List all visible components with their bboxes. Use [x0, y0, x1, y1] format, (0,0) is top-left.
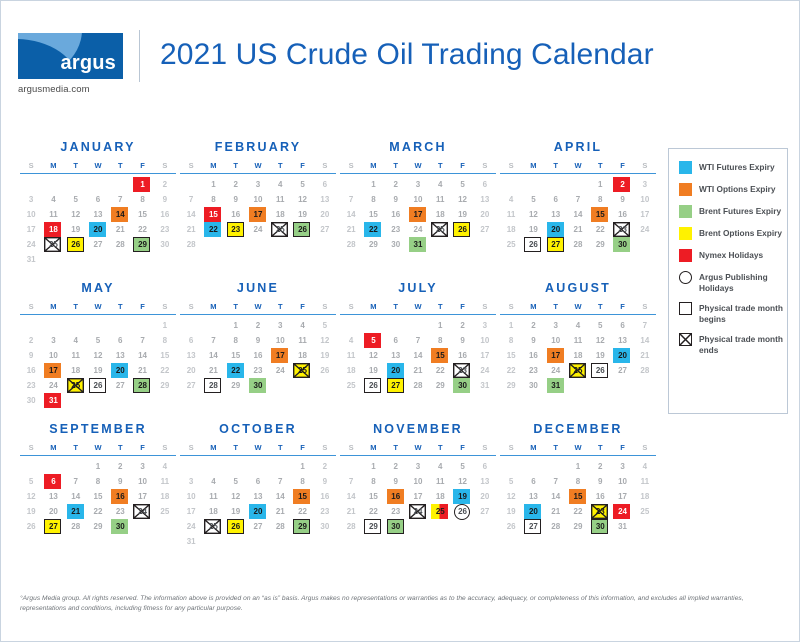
- weekday-label: S: [634, 161, 656, 170]
- day-number: 25: [640, 508, 649, 516]
- day-number: 17: [254, 211, 263, 219]
- day-cell: 28: [109, 238, 131, 252]
- day-cell: 12: [314, 334, 336, 348]
- day-cell: 24: [131, 505, 153, 519]
- day-number: 19: [298, 211, 307, 219]
- day-number: 5: [531, 196, 535, 204]
- day-number: 9: [29, 352, 33, 360]
- day-cell: 1: [202, 178, 224, 192]
- day-cell: 19: [20, 505, 42, 519]
- day-number: 8: [233, 337, 237, 345]
- day-cell: 26: [225, 520, 247, 534]
- day-cell: 30: [385, 520, 407, 534]
- day-cell: 13: [42, 490, 64, 504]
- day-number: 14: [347, 493, 356, 501]
- day-cell: 2: [20, 334, 42, 348]
- day-cell: 14: [180, 208, 202, 222]
- day-number: 29: [298, 523, 307, 531]
- day-empty: [362, 319, 384, 333]
- day-number: 5: [509, 478, 513, 486]
- day-empty: [500, 460, 522, 474]
- day-number: 28: [276, 523, 285, 531]
- day-number: 25: [347, 382, 356, 390]
- day-number: 26: [231, 523, 240, 531]
- day-cell: 2: [154, 178, 176, 192]
- day-number: 30: [160, 241, 169, 249]
- day-cell: 3: [474, 319, 496, 333]
- day-number: 12: [27, 493, 36, 501]
- day-cell: 18: [429, 208, 451, 222]
- day-number: 27: [94, 241, 103, 249]
- day-number: 19: [596, 352, 605, 360]
- day-number: 11: [641, 478, 649, 486]
- day-cell: 28: [340, 520, 362, 534]
- day-cell: 20: [247, 505, 269, 519]
- day-number: 27: [529, 523, 538, 531]
- day-number: 26: [71, 241, 80, 249]
- day-number: 30: [254, 382, 263, 390]
- day-cell: 1: [362, 178, 384, 192]
- day-cell: 28: [202, 379, 224, 393]
- day-cell: 15: [87, 490, 109, 504]
- day-number: 22: [209, 226, 218, 234]
- day-cell: 24: [407, 505, 429, 519]
- month-december: DECEMBERSMTWTFS1234567891011121314151617…: [500, 422, 660, 549]
- day-cell: 2: [522, 319, 544, 333]
- legend-item-label: Physical trade month ends: [699, 333, 787, 355]
- day-number: 18: [347, 367, 356, 375]
- days-grid: 1234567891011121314151617181920212223242…: [180, 460, 336, 549]
- day-cell: 4: [154, 460, 176, 474]
- day-cell: 25: [65, 379, 87, 393]
- day-cell: 3: [407, 460, 429, 474]
- weekday-label: M: [202, 302, 224, 311]
- day-cell: 30: [314, 520, 336, 534]
- day-cell: 31: [407, 238, 429, 252]
- day-cell: 15: [225, 349, 247, 363]
- day-cell: 5: [65, 193, 87, 207]
- day-number: 3: [51, 337, 55, 345]
- day-number: 16: [116, 493, 125, 501]
- day-number: 31: [49, 397, 58, 405]
- day-cell: 17: [407, 490, 429, 504]
- day-cell: 29: [291, 520, 313, 534]
- day-cell: 8: [225, 334, 247, 348]
- day-number: 5: [323, 322, 327, 330]
- day-cell: 12: [589, 334, 611, 348]
- weekday-label: F: [451, 302, 473, 311]
- day-number: 6: [323, 181, 327, 189]
- day-number: 20: [320, 211, 329, 219]
- day-cell: 15: [362, 490, 384, 504]
- day-cell: 18: [634, 490, 656, 504]
- day-cell: 22: [131, 223, 153, 237]
- legend-item-label: WTI Options Expiry: [699, 183, 776, 195]
- day-number: 16: [27, 367, 36, 375]
- day-cell: 4: [340, 334, 362, 348]
- day-empty: [202, 460, 224, 474]
- legend-item-label: Nymex Holidays: [699, 249, 763, 261]
- day-number: 19: [94, 367, 103, 375]
- day-number: 15: [574, 493, 583, 501]
- day-number: 2: [531, 322, 535, 330]
- day-empty: [522, 178, 544, 192]
- day-cell: 5: [500, 475, 522, 489]
- day-number: 12: [298, 196, 307, 204]
- day-cell: 30: [109, 520, 131, 534]
- weekday-label: S: [474, 302, 496, 311]
- day-number: 30: [529, 382, 538, 390]
- weekday-label: T: [385, 302, 407, 311]
- weekday-label: T: [429, 443, 451, 452]
- logo-wordmark: argus: [61, 53, 116, 73]
- day-cell: 16: [451, 349, 473, 363]
- day-number: 8: [576, 478, 580, 486]
- blue-square-icon: [679, 161, 692, 174]
- day-number: 16: [391, 493, 400, 501]
- day-cell: 13: [474, 475, 496, 489]
- day-cell: 4: [429, 178, 451, 192]
- day-cell: 13: [247, 490, 269, 504]
- day-cell: 16: [385, 208, 407, 222]
- weekday-label: S: [154, 443, 176, 452]
- day-cell: 14: [131, 349, 153, 363]
- day-number: 28: [71, 523, 80, 531]
- day-number: 28: [138, 382, 147, 390]
- day-cell: 9: [20, 349, 42, 363]
- day-number: 4: [349, 337, 353, 345]
- day-number: 22: [596, 226, 605, 234]
- weekday-label: F: [611, 443, 633, 452]
- day-number: 4: [278, 181, 282, 189]
- day-cell: 7: [545, 475, 567, 489]
- day-cell: 14: [269, 490, 291, 504]
- day-cell: 11: [429, 193, 451, 207]
- day-cell: 21: [131, 364, 153, 378]
- day-cell: 1: [567, 460, 589, 474]
- day-number: 8: [163, 337, 167, 345]
- month-november: NOVEMBERSMTWTFS1234567891011121314151617…: [340, 422, 500, 549]
- day-cell: 27: [247, 520, 269, 534]
- weekday-label: M: [362, 302, 384, 311]
- day-cell: 28: [131, 379, 153, 393]
- day-number: 19: [231, 508, 240, 516]
- day-empty: [522, 460, 544, 474]
- day-empty: [180, 178, 202, 192]
- day-number: 13: [94, 211, 103, 219]
- day-number: 13: [480, 478, 489, 486]
- day-number: 4: [438, 463, 442, 471]
- day-cell: 22: [202, 223, 224, 237]
- day-number: 28: [347, 523, 356, 531]
- day-cell: 23: [20, 379, 42, 393]
- legend-item-label: Brent Futures Expiry: [699, 205, 781, 217]
- day-cell: 31: [20, 253, 42, 267]
- day-number: 15: [369, 211, 378, 219]
- weekday-label: M: [362, 161, 384, 170]
- legend-item: Nymex Holidays: [679, 249, 787, 262]
- day-number: 18: [276, 211, 285, 219]
- day-cell: 10: [247, 193, 269, 207]
- day-cell: 20: [385, 364, 407, 378]
- day-cell: 10: [20, 208, 42, 222]
- day-cell: 28: [65, 520, 87, 534]
- day-cell: 27: [522, 520, 544, 534]
- day-number: 26: [94, 382, 103, 390]
- day-cell: 9: [314, 475, 336, 489]
- day-cell: 18: [42, 223, 64, 237]
- day-number: 28: [551, 523, 560, 531]
- day-number: 22: [369, 508, 378, 516]
- day-number: 12: [458, 478, 467, 486]
- day-empty: [340, 319, 362, 333]
- weekday-header-row: SMTWTFS: [340, 302, 496, 315]
- day-cell: 6: [474, 178, 496, 192]
- day-number: 24: [640, 226, 649, 234]
- weekday-label: M: [522, 443, 544, 452]
- day-number: 5: [233, 478, 237, 486]
- day-number: 22: [231, 367, 240, 375]
- day-number: 9: [393, 196, 397, 204]
- day-cell: 25: [500, 238, 522, 252]
- day-cell: 14: [340, 208, 362, 222]
- day-cell: 11: [291, 334, 313, 348]
- day-cell: 23: [154, 223, 176, 237]
- day-number: 15: [436, 352, 445, 360]
- day-cell: 6: [87, 193, 109, 207]
- weekday-label: T: [109, 302, 131, 311]
- day-number: 4: [509, 196, 513, 204]
- weekday-label: M: [522, 302, 544, 311]
- weekday-label: F: [611, 302, 633, 311]
- day-number: 15: [507, 352, 516, 360]
- day-number: 26: [369, 382, 378, 390]
- day-number: 22: [94, 508, 103, 516]
- day-empty: [20, 178, 42, 192]
- weekday-label: T: [225, 302, 247, 311]
- day-cell: 12: [451, 475, 473, 489]
- day-cell: 6: [611, 319, 633, 333]
- day-cell: 2: [385, 178, 407, 192]
- day-empty: [65, 460, 87, 474]
- day-number: 2: [323, 463, 327, 471]
- weekday-label: F: [451, 443, 473, 452]
- day-number: 5: [598, 322, 602, 330]
- legend-item: Argus Publishing Holidays: [679, 271, 787, 293]
- day-number: 29: [231, 382, 240, 390]
- day-cell: 12: [522, 208, 544, 222]
- month-title: SEPTEMBER: [20, 422, 176, 436]
- day-cell: 10: [545, 334, 567, 348]
- argus-logo-mark: argus: [18, 33, 123, 79]
- day-cell: 21: [65, 505, 87, 519]
- day-number: 9: [256, 337, 260, 345]
- day-cell: 30: [20, 394, 42, 408]
- weekday-label: T: [269, 161, 291, 170]
- days-grid: 1234567891011121314151617181920212223242…: [20, 319, 176, 408]
- day-number: 6: [620, 322, 624, 330]
- day-cell: 20: [522, 505, 544, 519]
- day-cell: 6: [522, 475, 544, 489]
- day-cell: 4: [291, 319, 313, 333]
- day-number: 19: [27, 508, 36, 516]
- day-number: 22: [138, 226, 147, 234]
- day-cell: 29: [225, 379, 247, 393]
- day-cell: 3: [247, 178, 269, 192]
- day-cell: 19: [500, 505, 522, 519]
- day-number: 18: [71, 367, 80, 375]
- day-cell: 7: [407, 334, 429, 348]
- legend-item: Physical trade month ends: [679, 333, 787, 355]
- day-cell: 23: [589, 505, 611, 519]
- day-cell: 16: [109, 490, 131, 504]
- day-cell: 26: [362, 379, 384, 393]
- day-number: 23: [391, 226, 400, 234]
- day-number: 14: [209, 352, 218, 360]
- day-number: 23: [116, 508, 125, 516]
- weekday-label: T: [385, 443, 407, 452]
- day-number: 20: [529, 508, 538, 516]
- weekday-label: T: [385, 161, 407, 170]
- day-number: 30: [596, 523, 605, 531]
- day-cell: 23: [611, 223, 633, 237]
- day-number: 11: [507, 211, 515, 219]
- day-cell: 26: [522, 238, 544, 252]
- day-cell: 16: [154, 208, 176, 222]
- day-number: 25: [71, 382, 80, 390]
- day-cell: 24: [634, 223, 656, 237]
- day-number: 3: [416, 463, 420, 471]
- weekday-label: W: [247, 161, 269, 170]
- day-cell: 10: [634, 193, 656, 207]
- day-number: 23: [529, 367, 538, 375]
- day-number: 13: [320, 196, 329, 204]
- day-number: 17: [187, 508, 196, 516]
- month-july: JULYSMTWTFS12345678910111213141516171819…: [340, 281, 500, 408]
- square-outline-icon: [679, 302, 692, 315]
- day-number: 23: [596, 508, 605, 516]
- day-cell: 14: [202, 349, 224, 363]
- day-number: 15: [596, 211, 605, 219]
- day-cell: 18: [202, 505, 224, 519]
- day-cell: 26: [451, 505, 473, 519]
- day-cell: 17: [20, 223, 42, 237]
- day-empty: [500, 178, 522, 192]
- day-cell: 14: [407, 349, 429, 363]
- day-cell: 22: [567, 505, 589, 519]
- day-number: 25: [436, 508, 445, 516]
- day-number: 3: [643, 181, 647, 189]
- days-grid: 1234567891011121314151617181920212223242…: [20, 460, 176, 534]
- day-cell: 11: [500, 208, 522, 222]
- day-cell: 9: [247, 334, 269, 348]
- weekday-label: S: [500, 443, 522, 452]
- day-cell: 6: [247, 475, 269, 489]
- day-cell: 28: [407, 379, 429, 393]
- day-cell: 24: [180, 520, 202, 534]
- day-cell: 8: [202, 193, 224, 207]
- day-cell: 17: [42, 364, 64, 378]
- day-cell: 27: [385, 379, 407, 393]
- day-number: 19: [458, 211, 467, 219]
- day-number: 17: [27, 226, 36, 234]
- day-number: 20: [187, 367, 196, 375]
- day-cell: 26: [451, 223, 473, 237]
- weekday-label: S: [474, 161, 496, 170]
- day-cell: 10: [407, 193, 429, 207]
- day-cell: 30: [154, 238, 176, 252]
- day-empty: [340, 178, 362, 192]
- month-april: APRILSMTWTFS1234567891011121314151617181…: [500, 140, 660, 267]
- day-number: 2: [460, 322, 464, 330]
- day-number: 24: [187, 523, 196, 531]
- day-number: 4: [163, 463, 167, 471]
- day-number: 16: [231, 211, 240, 219]
- day-cell: 17: [247, 208, 269, 222]
- day-number: 2: [163, 181, 167, 189]
- day-number: 27: [551, 241, 560, 249]
- day-empty: [42, 460, 64, 474]
- day-cell: 19: [291, 208, 313, 222]
- day-number: 24: [49, 382, 58, 390]
- weekday-label: S: [180, 302, 202, 311]
- day-number: 29: [160, 382, 169, 390]
- day-number: 4: [576, 322, 580, 330]
- day-number: 18: [209, 508, 218, 516]
- day-number: 10: [254, 196, 263, 204]
- day-number: 12: [529, 211, 538, 219]
- day-number: 2: [233, 181, 237, 189]
- weekday-label: W: [247, 443, 269, 452]
- day-number: 12: [71, 211, 80, 219]
- day-cell: 16: [522, 349, 544, 363]
- day-number: 9: [620, 196, 624, 204]
- weekday-label: F: [291, 302, 313, 311]
- day-number: 27: [480, 226, 489, 234]
- day-cell: 20: [109, 364, 131, 378]
- day-number: 26: [27, 523, 36, 531]
- weekday-label: S: [20, 443, 42, 452]
- day-cell: 8: [567, 475, 589, 489]
- day-number: 24: [27, 241, 36, 249]
- day-cell: 21: [202, 364, 224, 378]
- day-cell: 28: [567, 238, 589, 252]
- day-cell: 6: [314, 178, 336, 192]
- day-empty: [269, 460, 291, 474]
- day-number: 5: [460, 181, 464, 189]
- day-number: 27: [116, 382, 125, 390]
- day-number: 11: [49, 211, 57, 219]
- day-number: 12: [596, 337, 605, 345]
- day-number: 28: [640, 367, 649, 375]
- day-number: 30: [27, 397, 36, 405]
- day-number: 12: [320, 337, 329, 345]
- day-number: 17: [276, 352, 285, 360]
- day-number: 9: [393, 478, 397, 486]
- day-cell: 15: [429, 349, 451, 363]
- day-number: 3: [189, 478, 193, 486]
- day-number: 15: [94, 493, 103, 501]
- day-number: 11: [209, 493, 217, 501]
- weekday-label: T: [109, 443, 131, 452]
- weekday-header-row: SMTWTFS: [20, 443, 176, 456]
- day-cell: 27: [474, 223, 496, 237]
- day-cell: 1: [429, 319, 451, 333]
- days-grid: 1234567891011121314151617181920212223242…: [340, 319, 496, 393]
- day-number: 3: [553, 322, 557, 330]
- day-cell: 17: [545, 349, 567, 363]
- day-cell: 3: [269, 319, 291, 333]
